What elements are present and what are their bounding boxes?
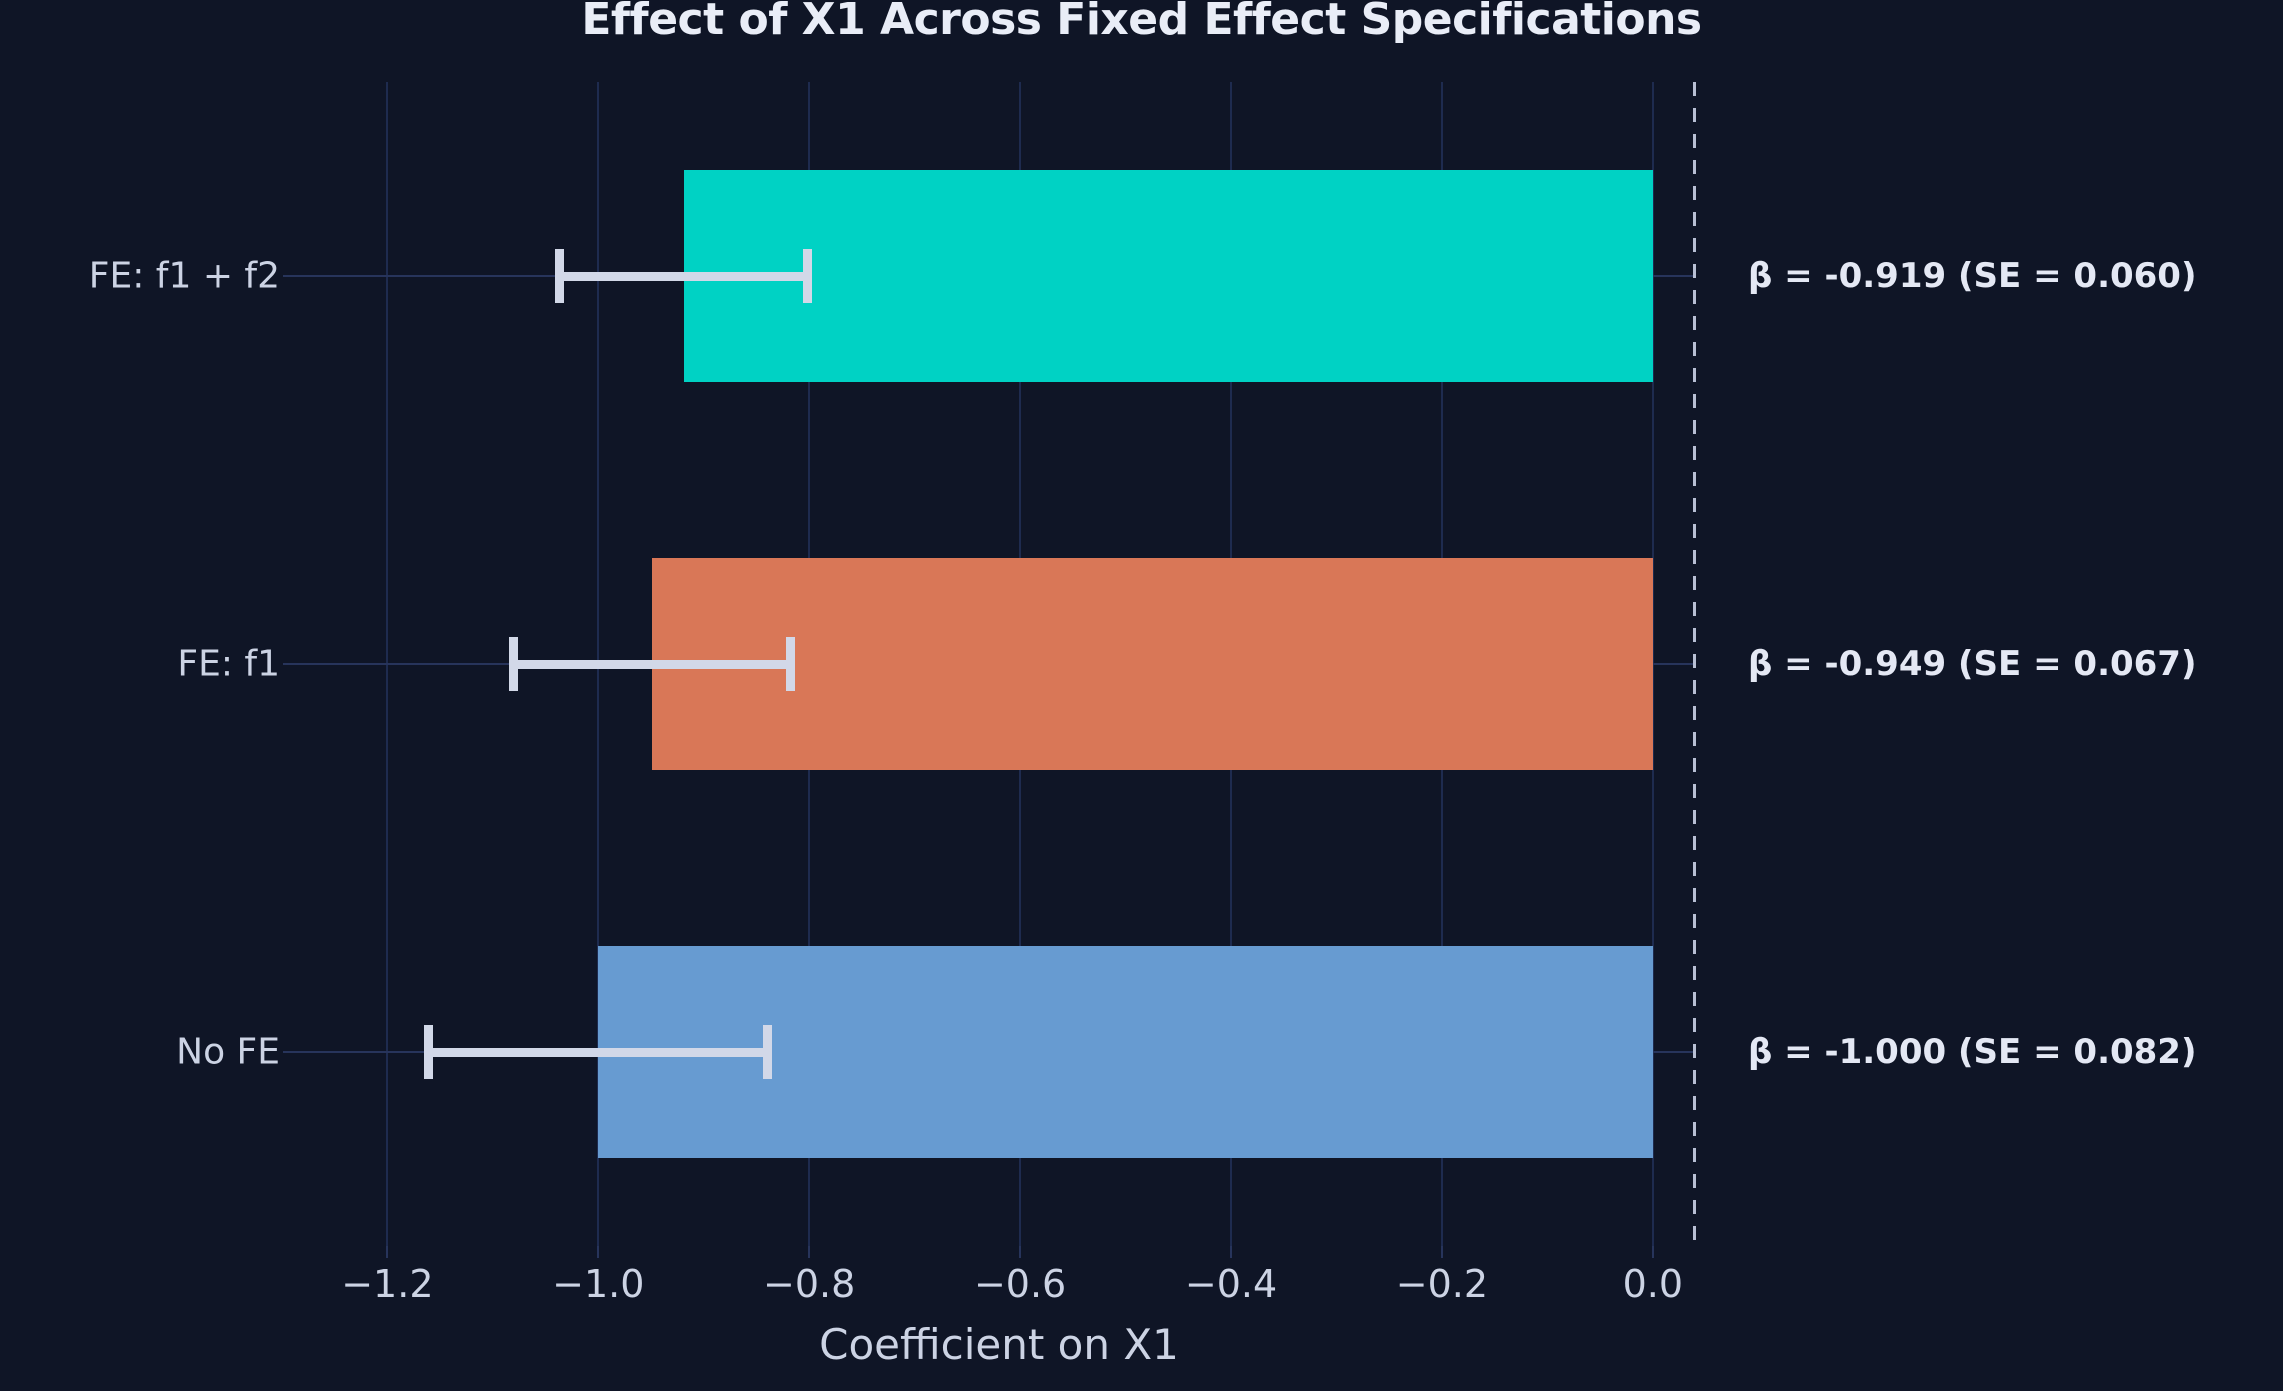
bar bbox=[684, 170, 1653, 382]
x-axis-tick-mark bbox=[808, 1246, 810, 1258]
y-axis-tick-label: No FE bbox=[0, 1032, 280, 1073]
y-axis-tick-mark bbox=[283, 275, 303, 277]
x-axis-tick-label: −1.2 bbox=[287, 1262, 487, 1306]
y-axis-tick-label: FE: f1 + f2 bbox=[0, 256, 280, 297]
errorbar-cap bbox=[555, 249, 564, 303]
errorbar-cap bbox=[803, 249, 812, 303]
x-axis-tick-mark bbox=[1441, 1246, 1443, 1258]
x-axis-tick-label: −0.8 bbox=[709, 1262, 909, 1306]
y-axis-tick-mark bbox=[283, 663, 303, 665]
x-axis-tick-mark bbox=[1019, 1246, 1021, 1258]
errorbar-cap bbox=[509, 637, 518, 691]
errorbar-line bbox=[514, 660, 791, 669]
x-axis-tick-label: −0.6 bbox=[920, 1262, 1120, 1306]
bar bbox=[652, 558, 1653, 770]
coefficient-annotation: β = -0.919 (SE = 0.060) bbox=[1748, 256, 2197, 296]
x-axis-label: Coefficient on X1 bbox=[303, 1320, 1695, 1369]
x-axis-tick-label: 0.0 bbox=[1553, 1262, 1753, 1306]
page-title: Effect of X1 Across Fixed Effect Specifi… bbox=[0, 0, 2283, 45]
errorbar-line bbox=[560, 272, 808, 281]
x-axis-tick-label: −1.0 bbox=[498, 1262, 698, 1306]
x-axis-tick-label: −0.4 bbox=[1131, 1262, 1331, 1306]
x-axis-tick-mark bbox=[386, 1246, 388, 1258]
zero-reference-line bbox=[1693, 82, 1696, 1246]
y-axis-tick-label: FE: f1 bbox=[0, 644, 280, 685]
x-axis-tick-mark bbox=[1230, 1246, 1232, 1258]
y-axis-tick-mark bbox=[283, 1051, 303, 1053]
plot-area bbox=[303, 82, 1695, 1246]
errorbar-line bbox=[429, 1048, 768, 1057]
errorbar-cap bbox=[424, 1025, 433, 1079]
chart-figure: Effect of X1 Across Fixed Effect Specifi… bbox=[0, 0, 2283, 1391]
coefficient-annotation: β = -1.000 (SE = 0.082) bbox=[1748, 1032, 2197, 1072]
errorbar-cap bbox=[763, 1025, 772, 1079]
coefficient-annotation: β = -0.949 (SE = 0.067) bbox=[1748, 644, 2197, 684]
errorbar-cap bbox=[786, 637, 795, 691]
x-axis-tick-mark bbox=[597, 1246, 599, 1258]
x-axis-tick-label: −0.2 bbox=[1342, 1262, 1542, 1306]
x-axis-tick-mark bbox=[1652, 1246, 1654, 1258]
